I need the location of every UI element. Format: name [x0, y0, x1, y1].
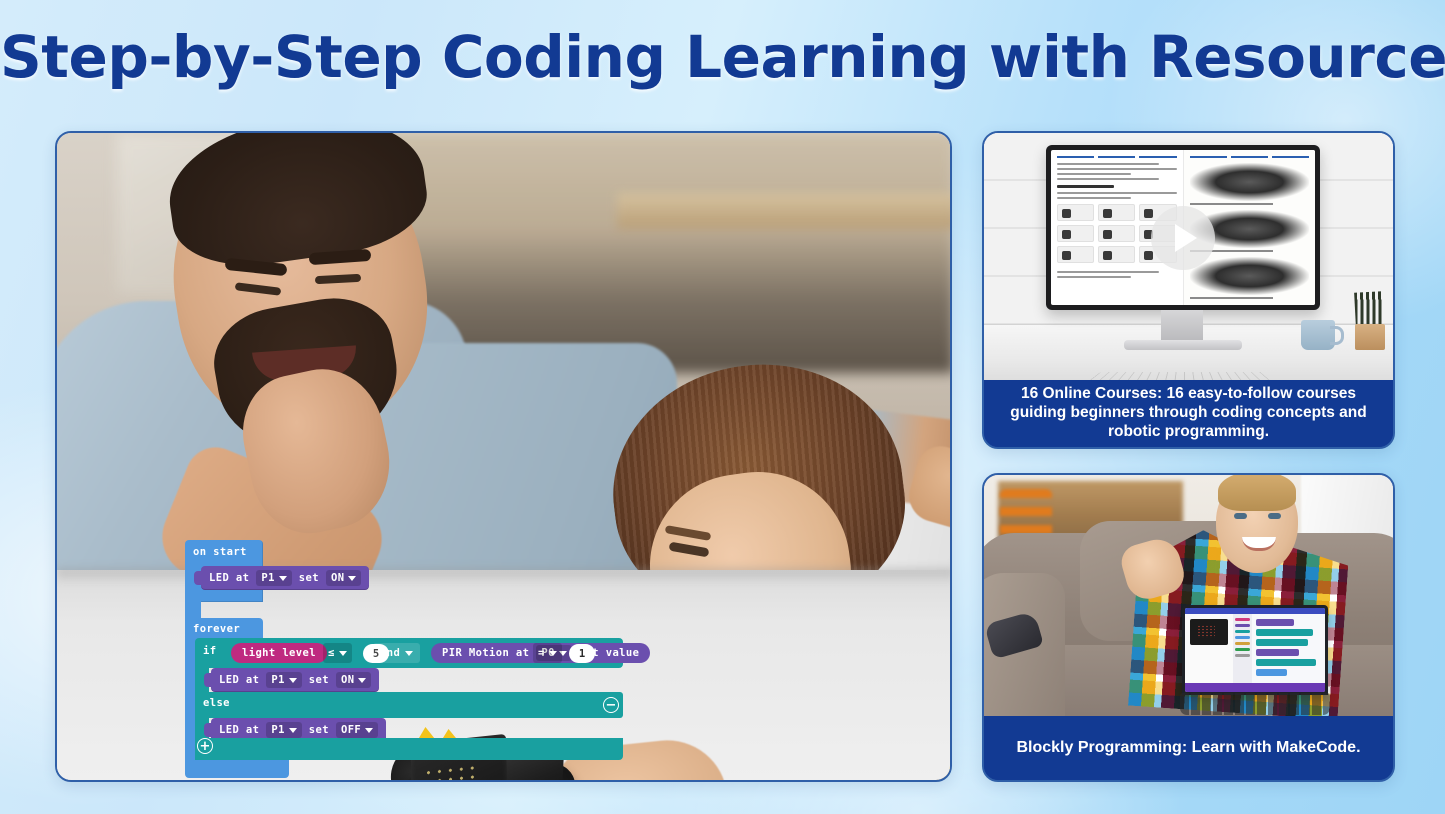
- led-else-pin-label: P1: [271, 724, 284, 736]
- part-cell: [1098, 225, 1135, 242]
- child2-eye-left: [1234, 513, 1247, 519]
- led-else-set-label: set: [309, 724, 329, 736]
- led-else-prefix-label: LED at: [219, 724, 259, 736]
- chevron-down-icon: [279, 576, 287, 581]
- expand-icon[interactable]: +: [197, 738, 213, 754]
- online-courses-card[interactable]: 16 Online Courses: 16 easy-to-follow cou…: [982, 131, 1395, 449]
- editor-footer: [1185, 683, 1325, 692]
- child2-eye-right: [1268, 513, 1281, 519]
- chevron-down-icon: [339, 651, 347, 656]
- monitor-stand-neck: [1161, 310, 1203, 342]
- page-title: Step-by-Step Coding Learning with Resour…: [0, 28, 1445, 87]
- doc-text-line: [1057, 163, 1159, 165]
- chevron-down-icon: [289, 728, 297, 733]
- simulated-microbit: [1190, 619, 1228, 645]
- doc-header-left: [1057, 155, 1177, 159]
- and-operator-label: and: [380, 647, 400, 659]
- led-set-on-then-block[interactable]: LED at P1 set ON: [211, 668, 379, 692]
- led-then-pin-label: P1: [271, 674, 284, 686]
- background-beam: [617, 193, 950, 229]
- state-dropdown-onstart[interactable]: ON: [326, 570, 361, 586]
- led-then-set-label: set: [309, 674, 329, 686]
- pencil-holder: [1355, 324, 1385, 350]
- play-icon[interactable]: [1151, 206, 1215, 270]
- palette-entry: [1235, 636, 1251, 639]
- monitor-tutorial-photo: [984, 133, 1393, 384]
- collapse-icon[interactable]: −: [603, 697, 619, 713]
- canvas-block: [1256, 649, 1299, 656]
- canvas-block: [1256, 669, 1287, 676]
- chevron-down-icon: [365, 728, 373, 733]
- laptop-keyboard-base: [1180, 693, 1330, 715]
- palette-entry: [1235, 618, 1251, 621]
- light-level-sensor-block[interactable]: light level: [231, 643, 327, 663]
- online-courses-caption: 16 Online Courses: 16 easy-to-follow cou…: [984, 380, 1393, 447]
- led-prefix-label: LED at: [209, 572, 249, 584]
- microbit-simulator-pane: [1185, 614, 1233, 683]
- chevron-down-icon: [405, 651, 413, 656]
- block-palette: [1233, 614, 1253, 683]
- makecode-editor-screen: [1185, 608, 1325, 692]
- if-keyword-label: if: [203, 645, 216, 657]
- blockly-programming-caption: Blockly Programming: Learn with MakeCode…: [984, 716, 1393, 780]
- doc-text-line: [1057, 168, 1177, 170]
- palette-entry: [1235, 624, 1251, 627]
- palette-entry: [1235, 648, 1251, 651]
- doc-header-right: [1190, 155, 1310, 159]
- light-level-label: light level: [242, 647, 316, 659]
- set-word-label: set: [299, 572, 319, 584]
- assembly-step-image: [1190, 163, 1310, 201]
- part-cell: [1098, 246, 1135, 263]
- pin-dropdown-then[interactable]: P1: [266, 672, 301, 688]
- doc-text-line: [1057, 178, 1159, 180]
- assembly-step-image: [1190, 257, 1310, 295]
- doc-text-line: [1057, 276, 1131, 278]
- part-cell: [1057, 246, 1094, 263]
- led-set-on-start-block[interactable]: LED at P1 set ON: [201, 566, 369, 590]
- light-operator-label: ≤: [328, 647, 335, 659]
- and-operator-dropdown[interactable]: and: [373, 643, 420, 663]
- palette-entry: [1235, 630, 1251, 633]
- canvas-block: [1256, 639, 1308, 646]
- state-dropdown-else[interactable]: OFF: [336, 722, 378, 738]
- state-value-label: ON: [331, 572, 344, 584]
- pencils: [1354, 291, 1384, 326]
- palette-entry: [1235, 642, 1251, 645]
- coffee-mug: [1301, 320, 1335, 350]
- hero-photo-card: on start LED at P1 set ON forever: [55, 131, 952, 782]
- page-root: Step-by-Step Coding Learning with Resour…: [0, 0, 1445, 814]
- microbit-led-matrix: [423, 763, 479, 780]
- pir-expected-value[interactable]: 1: [569, 644, 595, 663]
- if-block-bottom: [195, 738, 623, 760]
- pir-operator-label: =: [538, 647, 545, 659]
- palette-entry: [1235, 654, 1251, 657]
- play-triangle: [1175, 224, 1197, 252]
- doc-text-line: [1057, 197, 1131, 199]
- part-cell: [1057, 225, 1094, 242]
- chevron-down-icon: [348, 576, 356, 581]
- assembly-step-caption: [1190, 203, 1274, 205]
- doc-heading-line: [1057, 185, 1114, 188]
- pin-dropdown-else[interactable]: P1: [266, 722, 301, 738]
- editor-body: [1185, 614, 1325, 683]
- doc-text-line: [1057, 271, 1159, 273]
- part-cell: [1098, 204, 1135, 221]
- part-cell: [1057, 204, 1094, 221]
- block-canvas: [1252, 614, 1325, 683]
- led-then-prefix-label: LED at: [219, 674, 259, 686]
- monitor-stand-base: [1124, 340, 1242, 350]
- light-comparison-operator-dropdown[interactable]: ≤: [323, 643, 352, 663]
- led-then-state-label: ON: [341, 674, 354, 686]
- hero-photo: on start LED at P1 set ON forever: [57, 133, 950, 780]
- pir-comparison-operator-dropdown[interactable]: =: [533, 643, 562, 663]
- pin-dropdown-onstart[interactable]: P1: [256, 570, 291, 586]
- on-start-label: on start: [193, 546, 247, 558]
- chevron-down-icon: [358, 678, 366, 683]
- else-row[interactable]: [195, 692, 623, 718]
- doc-text-line: [1057, 173, 1131, 175]
- canvas-block: [1256, 629, 1313, 636]
- chevron-down-icon: [289, 678, 297, 683]
- doc-text-line: [1057, 192, 1177, 194]
- canvas-block: [1256, 659, 1316, 666]
- led-else-state-label: OFF: [341, 724, 361, 736]
- child-with-laptop-photo: [984, 475, 1393, 720]
- state-dropdown-then[interactable]: ON: [336, 672, 371, 688]
- forever-label: forever: [193, 623, 240, 635]
- chevron-down-icon: [549, 651, 557, 656]
- blockly-programming-card[interactable]: Blockly Programming: Learn with MakeCode…: [982, 473, 1395, 782]
- assembly-step-caption: [1190, 297, 1274, 299]
- pin-value-label: P1: [261, 572, 274, 584]
- laptop-screen-lid: [1182, 605, 1328, 695]
- child2-hair: [1218, 475, 1296, 511]
- pir-prefix-label: PIR Motion at: [442, 647, 529, 659]
- canvas-block: [1256, 619, 1294, 626]
- else-keyword-label: else: [203, 697, 230, 709]
